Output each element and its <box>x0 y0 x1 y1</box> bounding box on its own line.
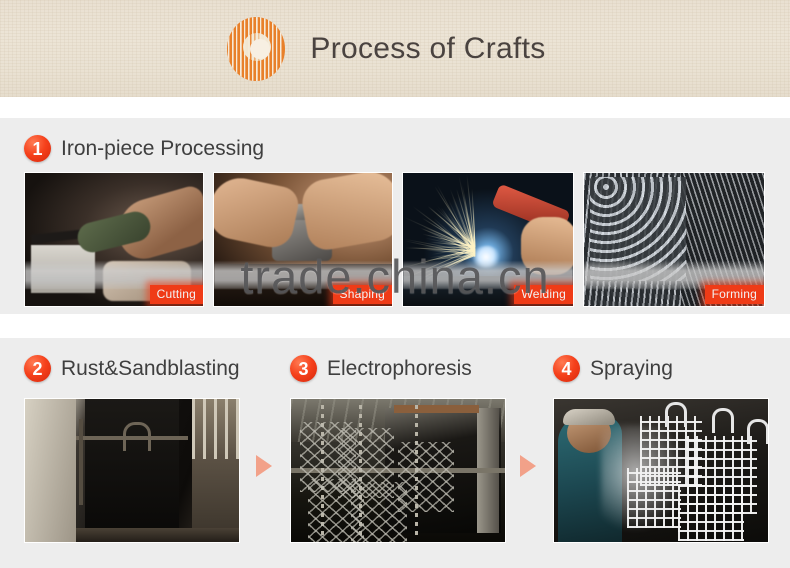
step-label-forming: Forming <box>705 285 764 304</box>
step-label-shaping: Shaping <box>333 285 392 304</box>
section-3-heading: 3 Electrophoresis <box>290 355 472 382</box>
step-thumbnail-spraying[interactable] <box>553 398 769 543</box>
section-2-heading: 2 Rust&Sandblasting <box>24 355 240 382</box>
section-4-heading: 4 Spraying <box>553 355 673 382</box>
page-title: Process of Crafts <box>310 32 545 66</box>
header-inner: Process of Crafts <box>224 16 545 82</box>
step-thumbnail-welding[interactable]: Welding <box>402 172 574 307</box>
step-label-welding: Welding <box>514 285 573 304</box>
striped-oval-logo-icon <box>224 16 288 82</box>
section-3-badge: 3 <box>290 355 317 382</box>
step-thumbnail-forming[interactable]: Forming <box>583 172 765 307</box>
step-thumbnail-electrophoresis[interactable] <box>290 398 506 543</box>
section-1-badge: 1 <box>24 135 51 162</box>
step-thumbnail-rust-sandblasting[interactable] <box>24 398 240 543</box>
step-thumbnail-cutting[interactable]: Cutting <box>24 172 204 307</box>
arrow-right-icon <box>520 455 536 477</box>
process-of-crafts-page: Process of Crafts 1 Iron-piece Processin… <box>0 0 790 568</box>
arrow-right-icon <box>256 455 272 477</box>
section-4-title: Spraying <box>590 357 673 381</box>
section-1-heading: 1 Iron-piece Processing <box>24 135 264 162</box>
section-3-title: Electrophoresis <box>327 357 472 381</box>
step-thumbnail-shaping[interactable]: Shaping <box>213 172 393 307</box>
section-1-title: Iron-piece Processing <box>61 137 264 161</box>
page-header: Process of Crafts <box>0 0 790 97</box>
step-label-cutting: Cutting <box>150 285 203 304</box>
section-4-badge: 4 <box>553 355 580 382</box>
photo-electrophoresis <box>291 399 505 542</box>
photo-sandblasting <box>25 399 239 542</box>
section-2-badge: 2 <box>24 355 51 382</box>
photo-spraying <box>554 399 768 542</box>
section-2-title: Rust&Sandblasting <box>61 357 240 381</box>
